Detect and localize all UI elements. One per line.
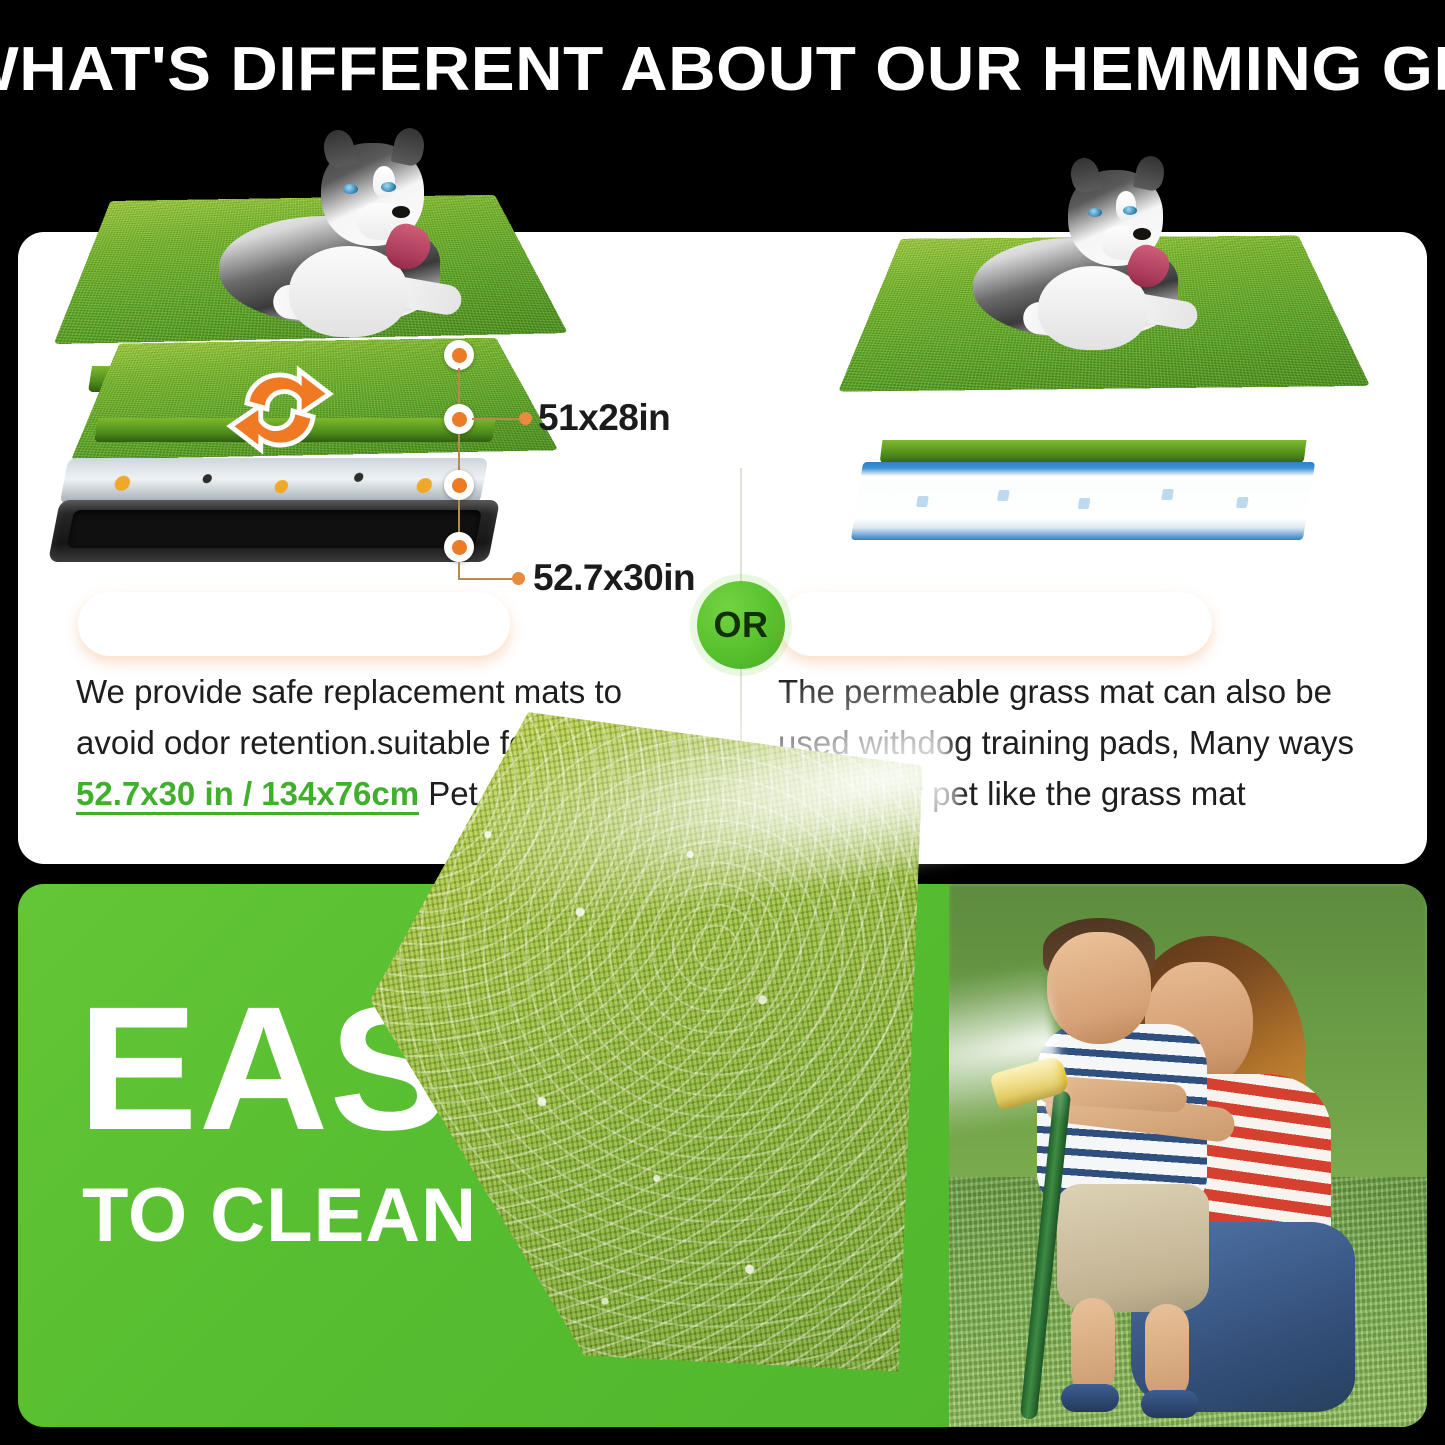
tray-basin bbox=[67, 510, 482, 548]
boy-face bbox=[1047, 932, 1151, 1044]
blue-training-pad bbox=[851, 462, 1315, 540]
method-badge-02: 02-FIRST METHOD bbox=[780, 592, 1212, 656]
black-tray bbox=[48, 500, 500, 562]
pad-marker bbox=[997, 490, 1010, 501]
callout-line-h1 bbox=[472, 418, 524, 420]
grass-mat-edge bbox=[880, 440, 1307, 464]
dog-ear-left bbox=[320, 127, 358, 170]
family-hose-photo bbox=[949, 884, 1427, 1427]
boy-leg bbox=[1071, 1298, 1115, 1394]
boy-leg bbox=[1145, 1304, 1189, 1400]
boy-sandal bbox=[1061, 1384, 1119, 1412]
callout-dot-4 bbox=[444, 532, 474, 562]
pad-marker bbox=[1078, 498, 1091, 509]
callout-endpoint-1 bbox=[519, 412, 532, 425]
callout-dot-1 bbox=[444, 340, 474, 370]
pad-marker bbox=[916, 496, 929, 507]
dog-eye-right bbox=[1123, 206, 1137, 215]
pad-marker bbox=[1236, 497, 1249, 508]
method-badge-01: 01-FIRST METHOD bbox=[78, 592, 510, 656]
or-badge: OR bbox=[697, 581, 785, 669]
recycle-arrows-icon bbox=[225, 358, 335, 462]
dog-eye-right bbox=[381, 182, 396, 192]
pad-marker bbox=[1161, 489, 1174, 500]
callout-endpoint-2 bbox=[512, 572, 525, 585]
dimension-label-outer: 52.7x30in bbox=[533, 557, 695, 599]
dog-ear-right bbox=[391, 125, 428, 167]
patterned-pee-pad bbox=[60, 458, 489, 504]
dog-nose bbox=[1133, 228, 1151, 240]
husky-dog-right bbox=[963, 154, 1213, 354]
boy-sandal bbox=[1141, 1390, 1199, 1418]
page-title: WHAT'S DIFFERENT ABOUT OUR HEMMING GRASS… bbox=[0, 34, 1445, 105]
callout-dot-2 bbox=[444, 404, 474, 434]
dog-eye-left bbox=[343, 184, 358, 194]
dimension-label-inner: 51x28in bbox=[538, 397, 670, 439]
dog-ear-left bbox=[1067, 155, 1102, 195]
callout-line-h2 bbox=[458, 578, 516, 580]
dog-ear-right bbox=[1132, 154, 1166, 193]
right-product-stack bbox=[845, 140, 1365, 560]
callout-dot-3 bbox=[444, 470, 474, 500]
dog-eye-left bbox=[1088, 208, 1102, 217]
wet-grass-mat bbox=[360, 698, 943, 1389]
boy-shorts bbox=[1057, 1184, 1209, 1312]
dog-face-mask bbox=[373, 166, 396, 197]
husky-dog-left bbox=[208, 126, 478, 341]
